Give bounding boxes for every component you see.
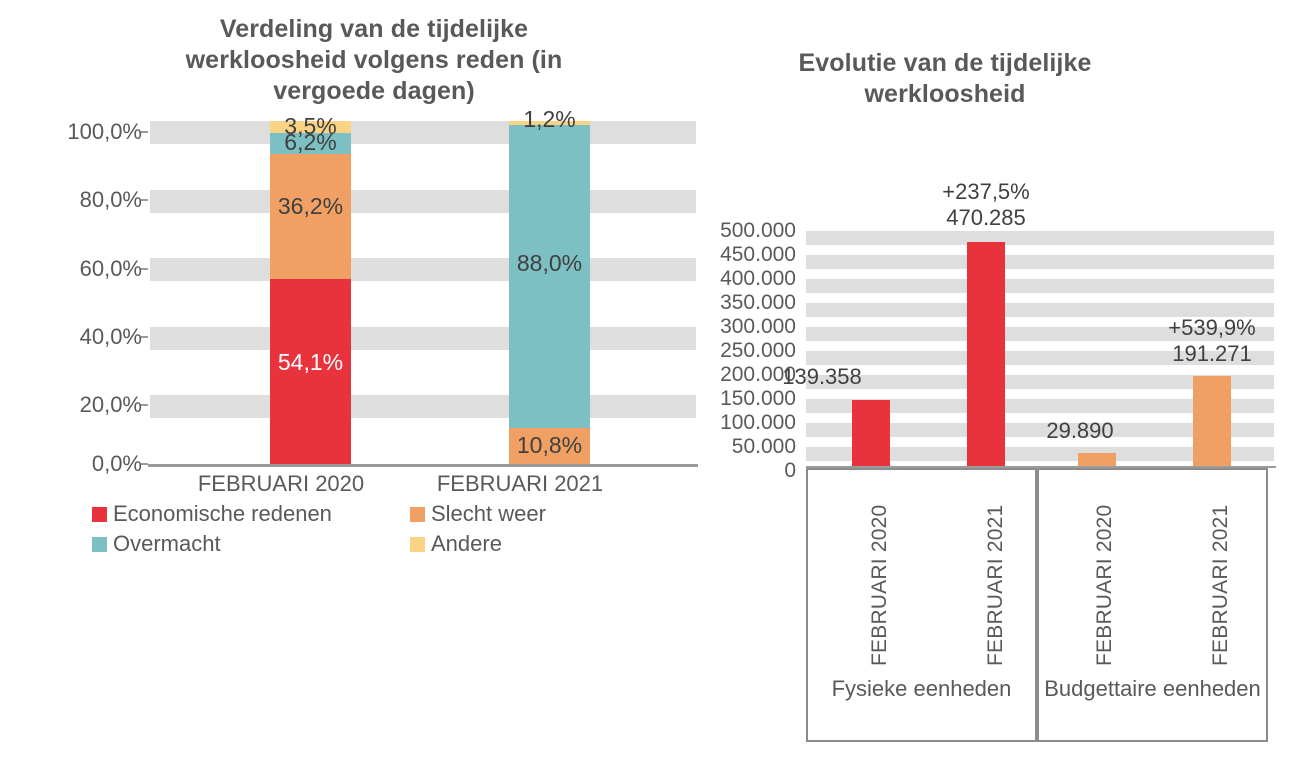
bar-value-fysieke-februari-2021: 470.285	[906, 205, 1066, 231]
bar-axis-label-fysieke-2020: FEBRUARI 2020	[868, 505, 892, 666]
grid-band	[150, 121, 696, 144]
bar-delta-fysieke-februari-2021: +237,5%	[906, 179, 1066, 205]
segment-value-label: 1,2%	[491, 108, 608, 131]
bar-budgettaire-februari-2021[interactable]	[1193, 376, 1231, 467]
left-chart-title: Verdeling van de tijdelijke werkloosheid…	[138, 14, 610, 107]
y-tick-mark	[141, 268, 148, 270]
y-tick-label: 20,0%	[30, 394, 142, 416]
legend-label: Overmacht	[113, 532, 221, 556]
y-tick-label: 40,0%	[30, 326, 142, 348]
legend-item-overmacht[interactable]: Overmacht	[92, 532, 221, 556]
bar-budgettaire-februari-2020[interactable]	[1078, 453, 1116, 467]
bar-fysieke-februari-2020[interactable]	[852, 400, 890, 467]
y-tick-label: 450.000	[690, 244, 796, 265]
y-tick-label: 400.000	[690, 268, 796, 289]
legend-item-slecht-weer[interactable]: Slecht weer	[410, 502, 546, 526]
y-tick-label: 100.000	[690, 412, 796, 433]
y-tick-label: 250.000	[690, 340, 796, 361]
left-plot-area: 54,1% 36,2% 6,2% 3,5% 10,8%	[150, 121, 696, 465]
group-box-fysieke-eenheden: FEBRUARI 2020 FEBRUARI 2021 Fysieke eenh…	[806, 468, 1037, 742]
y-tick-label: 150.000	[690, 388, 796, 409]
grid-band	[150, 327, 696, 350]
left-x-axis-line	[148, 464, 698, 467]
y-tick-label: 300.000	[690, 316, 796, 337]
y-tick-mark	[141, 463, 148, 465]
segment-slecht-weer[interactable]: 36,2%	[270, 154, 351, 279]
y-tick-label: 0,0%	[30, 453, 142, 475]
grid-band	[806, 279, 1274, 293]
grid-band	[150, 395, 696, 418]
legend-swatch-icon	[410, 507, 425, 522]
legend-label: Economische redenen	[113, 502, 332, 526]
group-label-budgettaire-eenheden: Budgettaire eenheden	[1039, 675, 1266, 702]
segment-slecht-weer[interactable]: 10,8%	[509, 428, 590, 465]
legend-label: Slecht weer	[431, 502, 546, 526]
y-tick-label: 60,0%	[30, 258, 142, 280]
segment-value-label: 3,5%	[252, 115, 369, 138]
y-tick-mark	[141, 336, 148, 338]
bar-stack-februari-2020[interactable]: 54,1% 36,2% 6,2% 3,5%	[270, 121, 351, 465]
bar-axis-label-fysieke-2021: FEBRUARI 2021	[984, 505, 1008, 666]
legend-label: Andere	[431, 532, 502, 556]
segment-andere[interactable]: 3,5%	[270, 121, 351, 133]
grid-band	[150, 190, 696, 213]
left-y-axis: 100,0% 80,0% 60,0% 40,0% 20,0% 0,0%	[30, 0, 142, 470]
bar-value-budgettaire-februari-2021: 191.271	[1132, 341, 1292, 367]
segment-value-label: 54,1%	[252, 351, 369, 374]
y-tick-label: 100,0%	[30, 121, 142, 143]
infographic-page: Verdeling van de tijdelijke werkloosheid…	[0, 0, 1304, 772]
y-tick-mark	[141, 404, 148, 406]
right-y-axis: 500.000 450.000 400.000 350.000 300.000 …	[690, 0, 796, 480]
bar-value-fysieke-februari-2020: 139.358	[742, 364, 902, 390]
bar-value-budgettaire-februari-2020: 29.890	[1000, 418, 1160, 444]
grid-band	[806, 255, 1274, 269]
legend-item-andere[interactable]: Andere	[410, 532, 502, 556]
y-tick-mark	[141, 199, 148, 201]
category-label-februari-2021: FEBRUARI 2021	[400, 472, 640, 496]
segment-value-label: 36,2%	[252, 195, 369, 218]
legend-swatch-icon	[92, 537, 107, 552]
category-label-februari-2020: FEBRUARI 2020	[161, 472, 401, 496]
group-label-fysieke-eenheden: Fysieke eenheden	[808, 675, 1035, 702]
legend-item-economische-redenen[interactable]: Economische redenen	[92, 502, 332, 526]
y-tick-label: 50.000	[690, 436, 796, 457]
segment-value-label: 88,0%	[491, 252, 608, 275]
legend-swatch-icon	[92, 507, 107, 522]
y-tick-label: 80,0%	[30, 189, 142, 211]
segment-value-label: 10,8%	[491, 434, 608, 457]
grid-band	[806, 231, 1274, 245]
y-tick-label: 0	[690, 460, 796, 481]
legend: Economische redenen Slecht weer Overmach…	[92, 502, 652, 560]
bar-delta-budgettaire-februari-2021: +539,9%	[1132, 315, 1292, 341]
legend-swatch-icon	[410, 537, 425, 552]
y-tick-mark	[141, 131, 148, 133]
y-tick-label: 500.000	[690, 220, 796, 241]
bar-axis-label-budgettaire-2020: FEBRUARI 2020	[1093, 505, 1117, 666]
segment-andere[interactable]: 1,2%	[509, 121, 590, 125]
grid-band	[150, 258, 696, 281]
segment-overmacht[interactable]: 88,0%	[509, 125, 590, 428]
bar-axis-label-budgettaire-2021: FEBRUARI 2021	[1209, 505, 1233, 666]
group-box-budgettaire-eenheden: FEBRUARI 2020 FEBRUARI 2021 Budgettaire …	[1037, 468, 1268, 742]
segment-economische-redenen[interactable]: 54,1%	[270, 279, 351, 465]
y-tick-label: 350.000	[690, 292, 796, 313]
right-chart-title: Evolutie van de tijdelijke werkloosheid	[765, 48, 1125, 110]
bar-stack-februari-2021[interactable]: 10,8% 88,0% 1,2%	[509, 121, 590, 465]
stacked-bar-chart: Verdeling van de tijdelijke werkloosheid…	[0, 0, 706, 570]
